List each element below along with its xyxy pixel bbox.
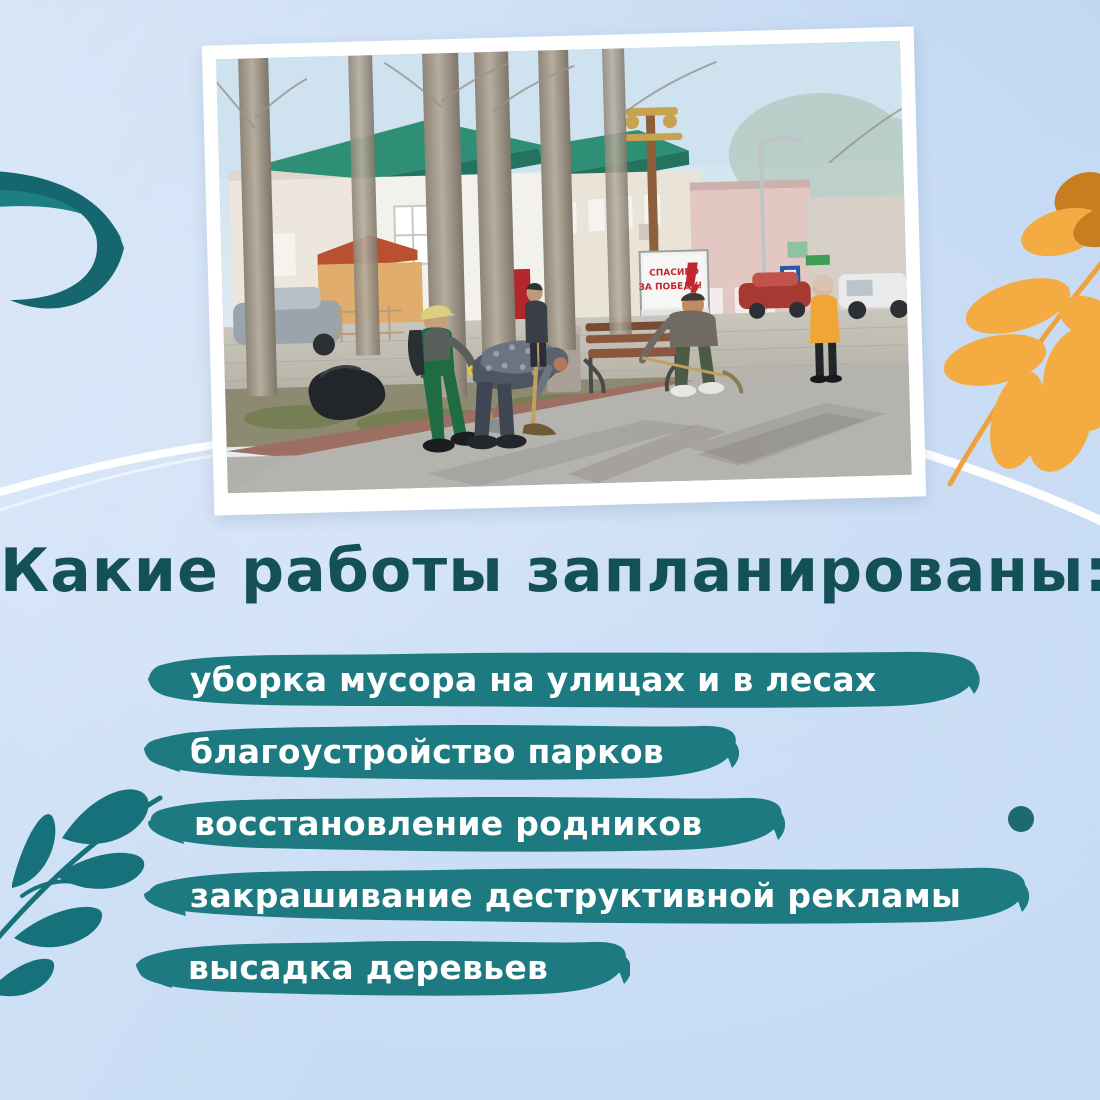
list-item[interactable]: благоустройство парков <box>0 720 1100 782</box>
planned-works-list: уборка мусора на улицах и в лесах благоу… <box>0 648 1100 1008</box>
photo-card: СПАСИБО ЗА ПОБЕДУ! <box>202 26 926 515</box>
list-item-label: высадка деревьев <box>188 948 548 987</box>
page-title: Какие работы запланированы: <box>0 536 1100 606</box>
list-item[interactable]: высадка деревьев <box>0 936 1100 998</box>
list-item[interactable]: уборка мусора на улицах и в лесах <box>0 648 1100 710</box>
orange-leaf-branch-icon <box>939 162 1100 484</box>
list-item[interactable]: восстановление родников <box>0 792 1100 854</box>
white-curve-left-lower <box>0 452 240 520</box>
white-curve-right <box>900 446 1100 530</box>
list-item-label: закрашивание деструктивной рекламы <box>190 876 961 915</box>
list-item-label: благоустройство парков <box>190 732 664 771</box>
street-cleanup-photo: СПАСИБО ЗА ПОБЕДУ! <box>216 41 911 493</box>
poster-canvas: СПАСИБО ЗА ПОБЕДУ! <box>0 0 1100 1100</box>
teal-crescent-shapes <box>0 171 124 309</box>
list-item-label: восстановление родников <box>194 804 703 843</box>
list-item[interactable]: закрашивание деструктивной рекламы <box>0 864 1100 926</box>
list-item-label: уборка мусора на улицах и в лесах <box>190 660 877 699</box>
